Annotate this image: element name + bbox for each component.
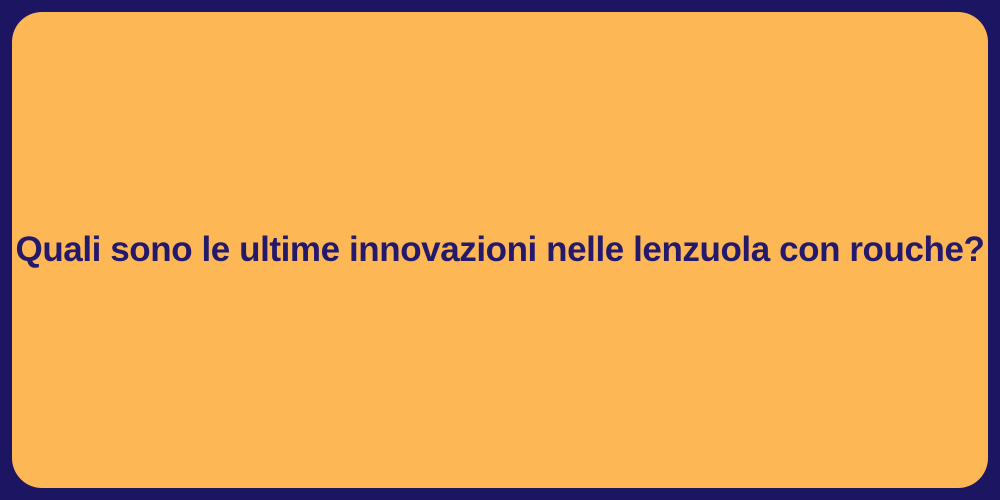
question-heading: Quali sono le ultime innovazioni nelle l…	[16, 228, 985, 272]
question-card-panel: Quali sono le ultime innovazioni nelle l…	[12, 12, 988, 488]
question-card-frame: Quali sono le ultime innovazioni nelle l…	[0, 0, 1000, 500]
